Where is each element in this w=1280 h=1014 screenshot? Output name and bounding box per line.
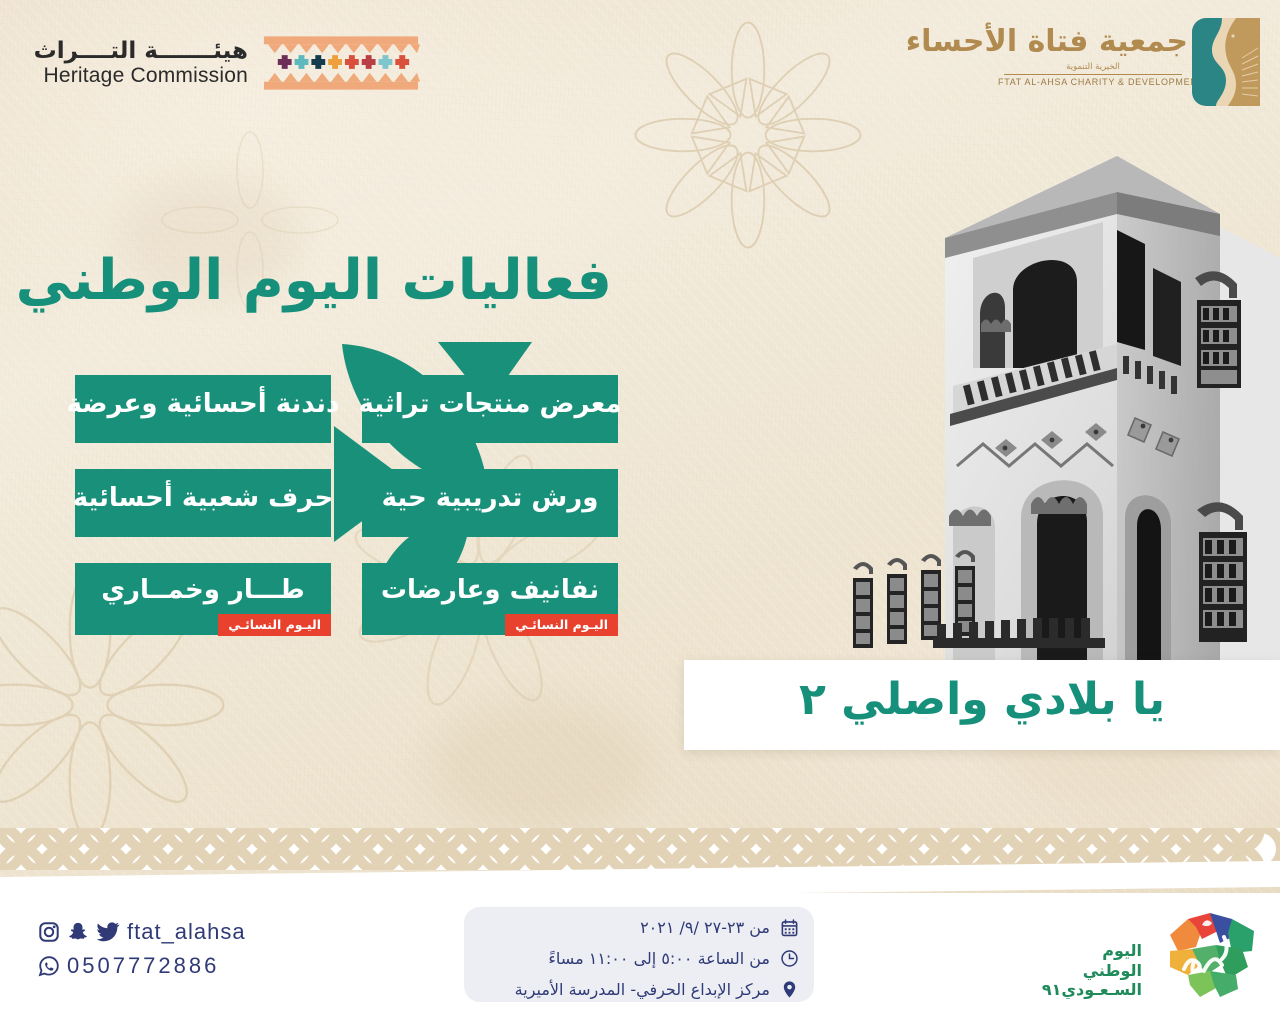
info-row-location: مركز الإبداع الحرفي- المدرسة الأميرية (464, 974, 814, 1005)
activities-grid: معرض منتجات تراثية دندنة أحسائية وعرضة و… (72, 375, 618, 661)
activity-label: نفانيف وعارضات (381, 577, 599, 603)
woman-silhouette-palm-mark (1192, 18, 1260, 106)
ftat-alahsa-arabic: جمعية فتاة الأحساء (998, 24, 1188, 59)
ftat-alahsa-logo: جمعية فتاة الأحساء الخيرية التنموية FTAT… (992, 14, 1260, 110)
heritage-commission-english: Heritage Commission (30, 64, 248, 88)
activity-label: معرض منتجات تراثية (359, 391, 622, 417)
activity-box-6[interactable]: طـــار وخمــاري اليـوم النسائـي (75, 563, 331, 635)
event-time: من الساعة ٥:٠٠ إلى ١١:٠٠ مساءً (548, 949, 770, 968)
info-row-date: من ٢٣-٢٧ /٩/ ٢٠٢١ (464, 907, 814, 943)
heritage-commission-arabic: هيئـــــــة التــــراث (30, 38, 248, 64)
activity-box-3[interactable]: ورش تدريبية حية (362, 469, 618, 537)
page-title: فعاليات اليوم الوطني ٩١ (0, 248, 612, 313)
whatsapp-number: 0507772886 (67, 953, 219, 979)
twitter-icon[interactable] (96, 921, 120, 943)
footer: ftat_alahsa 0507772886 (0, 893, 1280, 1014)
ftat-alahsa-arabic-sub: الخيرية التنموية (998, 62, 1188, 72)
activity-label: حرف شعبية أحسائية (73, 485, 333, 511)
activity-label: طـــار وخمــاري (101, 577, 305, 603)
ftat-alahsa-english: FTAT AL-AHSA CHARITY & DEVELOPMENT (998, 77, 1188, 87)
whatsapp-icon[interactable] (38, 955, 60, 977)
social-handle: ftat_alahsa (127, 919, 246, 945)
national-day-line2: السـعـودي٩١ (1054, 980, 1142, 1000)
snapchat-icon[interactable] (67, 921, 89, 943)
activity-label: دندنة أحسائية وعرضة (67, 391, 340, 417)
activities-row-2: ورش تدريبية حية حرف شعبية أحسائية (72, 469, 618, 537)
poster-root: هيئـــــــة التــــراث Heritage Commissi… (0, 0, 1280, 1014)
activity-box-4[interactable]: حرف شعبية أحسائية (75, 469, 331, 537)
national-day-map-mark (1144, 905, 1264, 1003)
clock-icon (779, 948, 800, 969)
event-date: من ٢٣-٢٧ /٩/ ٢٠٢١ (640, 918, 770, 937)
heritage-commission-logo: هيئـــــــة التــــراث Heritage Commissi… (30, 22, 386, 104)
national-day-label: اليوم الوطني السـعـودي٩١ (1054, 941, 1142, 1000)
status-badge: اليـوم النسائـي (218, 614, 331, 636)
floral-rosette-watermark (618, 10, 878, 260)
saudi-national-day-91-emblem: اليوم الوطني السـعـودي٩١ (1052, 905, 1264, 1003)
national-day-line1: اليوم الوطني (1054, 941, 1142, 980)
heritage-pattern-ornament (262, 32, 420, 94)
info-row-time: من الساعة ٥:٠٠ إلى ١١:٠٠ مساءً (464, 943, 814, 974)
social-handle-row[interactable]: ftat_alahsa (38, 915, 246, 949)
event-info-panel: من ٢٣-٢٧ /٩/ ٢٠٢١ من الساعة ٥:٠٠ إلى ١١:… (464, 907, 814, 1002)
location-pin-icon (779, 979, 800, 1000)
banner-title: يا بلادي واصلي ٢ (799, 674, 1165, 725)
activity-box-5[interactable]: نفانيف وعارضات اليـوم النسائـي (362, 563, 618, 635)
social-contacts: ftat_alahsa 0507772886 (38, 915, 246, 983)
calendar-icon (779, 917, 800, 938)
activity-label: ورش تدريبية حية (382, 485, 599, 511)
activities-row-1: معرض منتجات تراثية دندنة أحسائية وعرضة (72, 375, 618, 443)
whatsapp-row[interactable]: 0507772886 (38, 949, 246, 983)
activities-row-3: نفانيف وعارضات اليـوم النسائـي طـــار وخ… (72, 563, 618, 635)
activity-box-2[interactable]: دندنة أحسائية وعرضة (75, 375, 331, 443)
instagram-icon[interactable] (38, 921, 60, 943)
activity-box-1[interactable]: معرض منتجات تراثية (362, 375, 618, 443)
event-banner: يا بلادي واصلي ٢ (684, 660, 1280, 750)
status-badge: اليـوم النسائـي (505, 614, 618, 636)
event-location: مركز الإبداع الحرفي- المدرسة الأميرية (515, 980, 770, 999)
